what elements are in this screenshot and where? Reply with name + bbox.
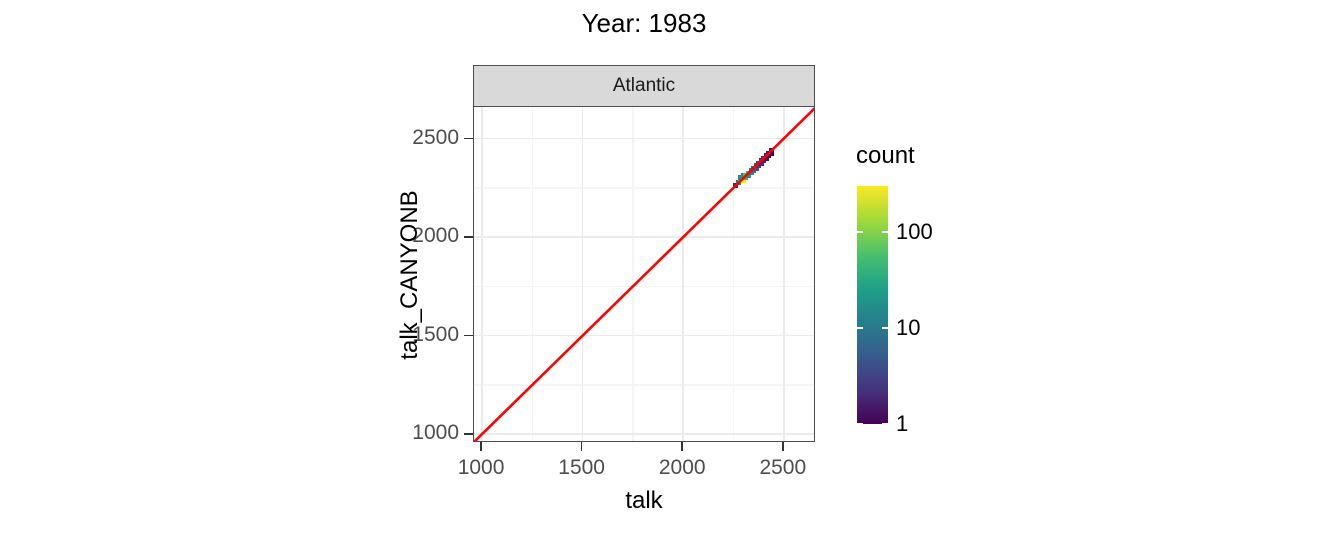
x-axis-tick [681, 442, 683, 451]
panel-inner [474, 107, 814, 441]
y-axis-tick-label: 1000 [412, 421, 459, 445]
x-axis-tick-label: 1000 [431, 456, 531, 480]
identity-reference-line [474, 107, 814, 441]
y-axis-tick [464, 236, 473, 238]
y-axis-tick [464, 433, 473, 435]
legend-colorbar [857, 186, 888, 424]
x-axis-tick-label: 1500 [532, 456, 632, 480]
legend-tick-mark [882, 327, 888, 329]
plot-panel [473, 107, 815, 442]
y-axis-tick [464, 138, 473, 140]
x-axis-tick-label: 2500 [733, 456, 833, 480]
y-axis-tick [464, 335, 473, 337]
x-axis-tick-label: 2000 [632, 456, 732, 480]
legend-tick-mark [857, 327, 863, 329]
x-axis-tick [480, 442, 482, 451]
legend-tick-mark [857, 423, 863, 425]
x-axis-tick [581, 442, 583, 451]
y-axis-title: talk_CANYONB [396, 190, 424, 359]
legend-tick-label: 1 [896, 411, 908, 437]
page-title: Year: 1983 [473, 8, 815, 39]
facet-strip-atlantic: Atlantic [473, 65, 815, 107]
facet-strip-label: Atlantic [474, 75, 814, 97]
plot-root: Year: 1983 Atlantic 10001500200025001000… [0, 0, 1344, 537]
legend-tick-label: 10 [896, 315, 920, 341]
x-axis-tick [782, 442, 784, 451]
legend-tick-mark [857, 231, 863, 233]
legend-tick-mark [882, 423, 888, 425]
y-axis-tick-label: 2500 [412, 126, 459, 150]
legend-tick-mark [882, 231, 888, 233]
legend-tick-label: 100 [896, 219, 933, 245]
legend-title: count [856, 142, 915, 170]
x-axis-title: talk [473, 487, 815, 515]
